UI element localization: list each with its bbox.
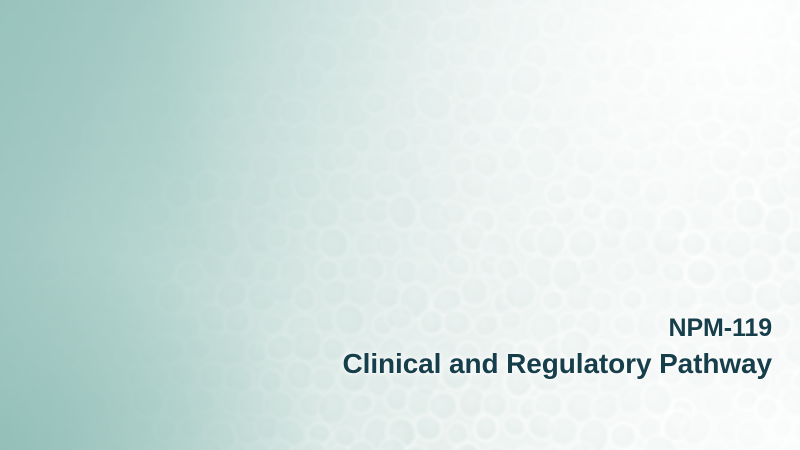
cell-texture-background	[0, 0, 800, 450]
bottom-right-light-pool	[0, 0, 800, 450]
title-slide: NPM-119 Clinical and Regulatory Pathway	[0, 0, 800, 450]
top-right-light-pool	[0, 0, 800, 450]
slide-title-line-1: NPM-119	[343, 316, 772, 341]
slide-title-line-2: Clinical and Regulatory Pathway	[343, 350, 772, 378]
bottom-left-teal-pool	[0, 0, 800, 450]
diagonal-teal-wash	[0, 0, 800, 450]
title-block: NPM-119 Clinical and Regulatory Pathway	[343, 316, 772, 378]
